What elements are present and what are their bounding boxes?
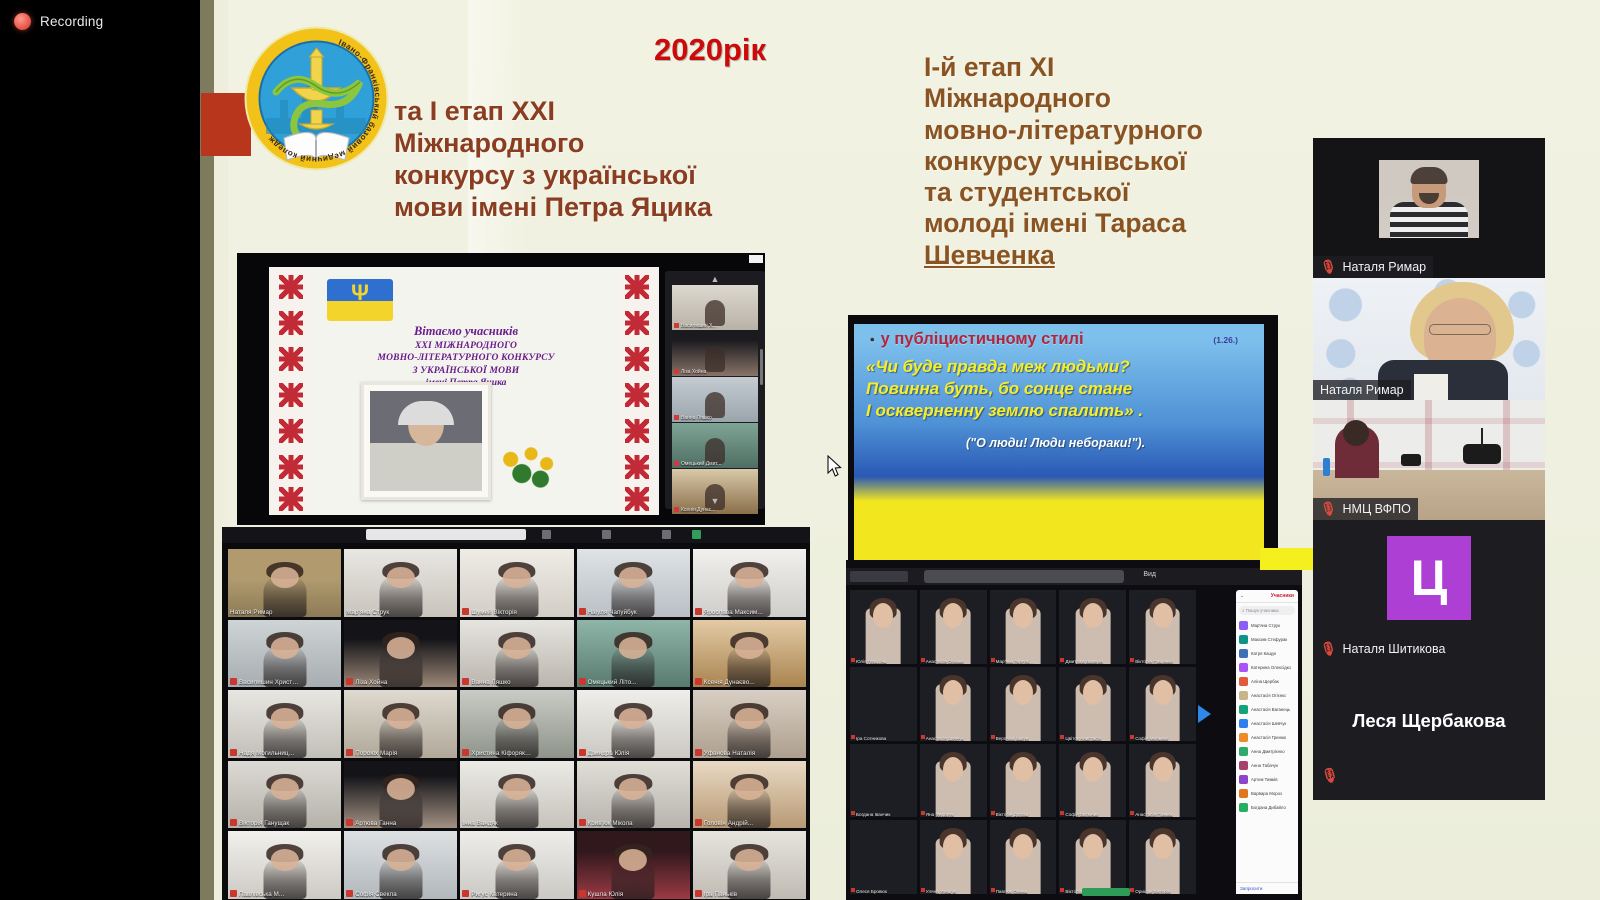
filmstrip-scrollbar[interactable] — [760, 349, 763, 385]
year-badge: 2020рік — [654, 32, 766, 68]
slide-title-right: I-й етап XI Міжнародного мовно-літератур… — [924, 52, 1324, 271]
mic-muted-icon: 🎙 — [1320, 501, 1337, 517]
meeting-toolbar: Вид — [846, 568, 1302, 585]
participant-tile-3-label: НМЦ ВФПО — [1343, 502, 1411, 516]
participant-name: Богдана Іванчик — [856, 812, 890, 817]
gallery-tile[interactable]: Інна Вандяк — [460, 761, 573, 829]
avatar — [1239, 789, 1248, 798]
gallery-tile-label: Христина Кіфоряк… — [462, 749, 571, 757]
chevron-up-icon[interactable]: ▲ — [711, 274, 720, 284]
recording-label: Recording — [40, 14, 103, 29]
participant-list-item[interactable]: Катерина Олексідко — [1236, 660, 1298, 674]
mouse-pointer-icon — [826, 455, 842, 479]
mic-muted-icon — [1060, 811, 1064, 815]
meeting-tile-label: Юлія Гельдіна — [851, 658, 916, 664]
participant-name: Мар'яна Струк — [346, 609, 389, 616]
filmstrip-tile[interactable]: Василишин Х... — [672, 285, 758, 330]
meeting-gallery-tile[interactable]: Софія Мельник — [1129, 667, 1196, 741]
tile-face — [619, 637, 647, 659]
meeting-tile-label: Анастасія Гринюк — [1130, 811, 1195, 817]
meeting-tile-label: Яна Федорук — [921, 811, 986, 817]
avatar — [1239, 649, 1248, 658]
participant-list-item[interactable]: Катря Кащук — [1236, 646, 1298, 660]
meeting-tile-label: Вікторія Гриценко — [1130, 658, 1195, 664]
college-emblem-icon: Івано-Франківський базовий медичний коле… — [240, 22, 393, 175]
gallery-tile[interactable]: Наталя Римар — [228, 549, 341, 617]
meeting-tile-label: Іра Сотникова — [851, 735, 916, 741]
gallery-tile-label: Софія Свекла — [346, 890, 455, 898]
tile-face — [387, 778, 415, 800]
mic-muted-icon: 🎙 — [1320, 259, 1337, 275]
tile-face — [1083, 834, 1103, 859]
title-right-line-6: молоді імені Тараса — [924, 208, 1324, 239]
meeting-gallery-tile[interactable]: Цвіток Анастасія — [1059, 667, 1126, 741]
glasses-icon — [1429, 324, 1491, 335]
filmstrip-tile[interactable]: Ліза Хойна — [672, 331, 758, 376]
gallery-tile[interactable]: Уфанова Наталія — [693, 690, 806, 758]
mic-muted-icon — [1130, 658, 1134, 662]
meeting-gallery-tile[interactable]: Анастасія Шевчук — [920, 667, 987, 741]
invite-button[interactable]: Запросити — [1236, 882, 1298, 894]
tile-face — [503, 778, 531, 800]
meeting-tile-label: Богдана Іванчик — [851, 811, 916, 817]
mic-muted-icon — [991, 735, 995, 739]
participant-name: Іра Сотникова — [856, 736, 886, 741]
mic-muted-icon — [346, 819, 353, 826]
gallery-tile[interactable]: Пороюх Марія — [344, 690, 457, 758]
participant-name: Вероніка Бакун — [996, 736, 1029, 741]
gallery-tile[interactable]: Ригус Катерина — [460, 831, 573, 899]
tile-face — [735, 778, 763, 800]
gallery-tile-label: Вікторія Ганущак — [230, 819, 339, 827]
screen: Recording — [0, 0, 1600, 900]
participant-name: Ванна Ляшко — [471, 679, 510, 686]
welcome-line-3: МОВНО-ЛІТЕРАТУРНОГО КОНКУРСУ — [317, 352, 615, 365]
gallery-tile[interactable]: Ліза Хойна — [344, 620, 457, 688]
participant-list-item[interactable]: Аліна Щербак — [1236, 674, 1298, 688]
participant-list-item[interactable]: Анастасія Гринюк — [1236, 730, 1298, 744]
tile-face — [1153, 757, 1173, 782]
meeting-gallery-tile[interactable]: Яна Федорук — [920, 744, 987, 818]
participant-name: Орищак Вікторія — [1135, 889, 1170, 894]
tile-face — [735, 637, 763, 659]
flower-decoration — [497, 445, 559, 500]
meeting-gallery-tile[interactable]: Юлія Гельдіна — [850, 590, 917, 664]
participant-list-item[interactable]: Анастасія Шевчук — [1236, 716, 1298, 730]
mic-muted-icon — [579, 749, 586, 756]
mic-muted-icon — [579, 608, 586, 615]
mic-muted-icon — [851, 735, 855, 739]
gallery-tile-label: Іра Паньків — [695, 890, 804, 898]
share-button[interactable] — [1082, 888, 1130, 896]
participant-name: Катря Кащук — [1251, 651, 1276, 656]
view-button-label[interactable]: Вид — [1143, 571, 1156, 578]
blue-slide-source: ("О люди! Люди небораки!"). — [966, 436, 1258, 450]
ukraine-flag-emblem: Ψ — [327, 279, 393, 321]
participant-name: Інна Вандяк — [462, 820, 497, 827]
participant-tile-5-label: Леся Щербакова — [1313, 710, 1545, 732]
gallery-tile[interactable]: Софія Свекла — [344, 831, 457, 899]
tile-face — [943, 603, 963, 628]
meeting-gallery-tile[interactable]: Богдана Іванчик — [850, 744, 917, 818]
filmstrip-tile-label: Ванна Ляшко — [681, 415, 712, 421]
filmstrip-tile[interactable]: Ксенія Дунає... — [672, 469, 758, 514]
mic-muted-icon — [579, 819, 586, 826]
tile-face — [387, 708, 415, 730]
yellow-highlight-block — [1260, 548, 1318, 570]
gallery-tile-label: Павлівська М... — [230, 890, 339, 898]
title-right-line-7: Шевченка — [924, 240, 1324, 271]
meeting-gallery-tile[interactable]: Іра Сотникова — [850, 667, 917, 741]
participant-name: Анастасія Шевчук — [926, 736, 964, 741]
participant-name: Богдана Дибайло — [1251, 805, 1286, 810]
avatar — [1239, 803, 1248, 812]
blue-slide-quote: «Чи буде правда меж людьми? Повинна буть… — [866, 356, 1258, 422]
meeting-gallery-grid: Юлія ГельдінаАнастасія ОгієнкоМар'яна Ге… — [850, 590, 1196, 894]
filmstrip-tile-label: Ліза Хойна — [681, 369, 706, 375]
meeting-gallery-tile[interactable]: Уляна Улищук — [920, 820, 987, 894]
participant-tile-4[interactable]: Ц 🎙 Наталя Шитикова — [1313, 520, 1545, 660]
gallery-topbar — [222, 527, 810, 543]
participant-list-item[interactable]: Варвара Мороз — [1236, 786, 1298, 800]
tile-face — [503, 567, 531, 589]
screenshot-corner-marker — [749, 255, 763, 263]
gallery-tile-label: Мар'яна Струк — [346, 609, 455, 616]
avatar — [1239, 719, 1248, 728]
meeting-gallery-tile[interactable]: Вікторія Дорош — [990, 744, 1057, 818]
tile-face — [1013, 603, 1033, 628]
title-left-line-4: мови імені Петра Яцика — [394, 192, 824, 224]
gallery-tile[interactable]: Василишин Христ… — [228, 620, 341, 688]
mic-muted-icon — [1130, 735, 1134, 739]
slide-title-left: та I етап XXI Міжнародного конкурсу з ук… — [394, 96, 824, 223]
participant-name: Анастасія Гринюк — [1135, 812, 1172, 817]
participant-name: Вікторія Гриценко — [1135, 659, 1173, 664]
avatar — [1239, 635, 1248, 644]
meeting-tile-label: Софія Мельник — [1130, 735, 1195, 741]
welcome-slide: Ψ Вітаємо учасників XXI МІЖНАРОДНОГО МОВ… — [269, 267, 659, 515]
title-right-line-4: конкурсу учнівської — [924, 146, 1324, 177]
participant-name: Іра Паньків — [704, 891, 737, 898]
gallery-grid: Наталя РимарМар'яна СтрукШумей ВікторіяН… — [228, 549, 806, 899]
meeting-tile-label: Софія Васюник — [1060, 811, 1125, 817]
tile-face — [1153, 603, 1173, 628]
tile-face — [270, 637, 298, 659]
play-arrow-icon[interactable] — [1198, 705, 1211, 723]
title-right-line-3: мовно-літературного — [924, 115, 1324, 146]
participant-name: Софія Васюник — [1065, 812, 1098, 817]
gallery-tile-label: Ригус Катерина — [462, 890, 571, 898]
mic-muted-icon — [695, 678, 702, 685]
mic-muted-icon — [695, 819, 702, 826]
participant-name: Дзиндра Юлія — [588, 750, 630, 757]
gallery-tile[interactable]: Надя Могильниц… — [228, 690, 341, 758]
tile-face — [619, 778, 647, 800]
gallery-tile[interactable]: Вікторія Ганущак — [228, 761, 341, 829]
gallery-tile-label: Кушла Юлія — [579, 890, 688, 898]
gallery-tile[interactable]: Наіуля Чапуйбук — [577, 549, 690, 617]
tile-face — [1153, 680, 1173, 705]
avatar — [1239, 677, 1248, 686]
participant-name: Уляна Улищук — [926, 889, 956, 894]
welcome-line-2: XXI МІЖНАРОДНОГО — [317, 340, 615, 353]
gallery-tile-label: Уфанова Наталія — [695, 749, 804, 757]
gallery-tile-label: Надя Могильниц… — [230, 749, 339, 757]
mic-muted-icon — [1060, 888, 1064, 892]
tile-face — [735, 708, 763, 730]
mic-muted-icon — [230, 890, 237, 897]
meeting-gallery-tile[interactable]: Олеся Бровюк — [850, 820, 917, 894]
meeting-tile-label: Уляна Улищук — [921, 888, 986, 894]
participant-list-item[interactable]: Анастасія Ваганець — [1236, 702, 1298, 716]
participant-name-bar: 🎙 Наталя Римар — [1313, 256, 1433, 278]
meeting-gallery-tile[interactable]: Анастасія Гринюк — [1129, 744, 1196, 818]
participant-name: Катерина Олексідко — [1251, 665, 1291, 670]
mic-muted-icon — [851, 658, 855, 662]
participant-name: Крив'юк Мікола — [588, 820, 633, 827]
meeting-gallery-tile[interactable]: Павлюк Олена — [990, 820, 1057, 894]
meeting-tile-label: Мар'яна Гергулі... — [991, 658, 1056, 664]
meeting-gallery-tile[interactable]: Дмитрієв Валерія — [1059, 590, 1126, 664]
participant-name: Христина Кіфоряк… — [471, 750, 531, 757]
tile-face — [1083, 757, 1103, 782]
gallery-tile[interactable]: Христина Кіфоряк… — [460, 690, 573, 758]
participant-name: Анастасія Ваганець — [1251, 707, 1290, 712]
meeting-gallery-tile[interactable]: Софія Васюник — [1059, 744, 1126, 818]
participant-name: Василишин Христ… — [239, 679, 298, 686]
participant-name: Цвіток Анастасія — [1065, 736, 1101, 741]
quote-line-2: Повинна буть, бо сонце стане — [866, 378, 1258, 400]
gallery-tile[interactable]: Ксенія Дунаєво... — [693, 620, 806, 688]
participant-name: Яна Федорук — [926, 812, 954, 817]
participant-name: Ксенія Дунаєво... — [704, 679, 755, 686]
tile-face — [619, 567, 647, 589]
participants-panel: ⌄ Учасники ⌕ Пошук учасника Мар'яна Стру… — [1236, 590, 1298, 894]
gallery-tile[interactable]: Кушла Юлія — [577, 831, 690, 899]
mic-muted-icon — [230, 819, 237, 826]
tile-face — [270, 567, 298, 589]
title-left-line-3: конкурсу з української — [394, 160, 824, 192]
participant-name: Аліна Щербак — [1251, 679, 1279, 684]
tile-face — [943, 757, 963, 782]
participant-list-item[interactable]: Анна Дмитрієнко — [1236, 744, 1298, 758]
gallery-tile-label: Артюва Ганна — [346, 819, 455, 827]
participant-name: Павлюк Олена — [996, 889, 1027, 894]
gallery-tile[interactable]: Головін Андрій... — [693, 761, 806, 829]
participant-tile-4-label: Наталя Шитикова — [1343, 642, 1446, 656]
record-dot-icon — [14, 13, 31, 30]
participant-name: Вікторія Дорош — [996, 812, 1029, 817]
avatar: Ц — [1387, 536, 1471, 620]
filmstrip-tile-label: Омецький Дмит... — [681, 461, 721, 467]
participant-tile-5[interactable]: Леся Щербакова 🎙 — [1313, 660, 1545, 790]
mic-muted-icon — [579, 678, 586, 685]
avatar — [1239, 747, 1248, 756]
blue-slide-body: •у публіцистичному стилі (1.26.) «Чи буд… — [854, 324, 1264, 570]
participants-panel-title: Учасники — [1271, 593, 1294, 599]
mic-muted-icon: 🎙 — [1320, 641, 1337, 657]
gallery-tile-label: Ярослава Максим... — [695, 608, 804, 616]
mic-muted-icon — [230, 678, 237, 685]
avatar — [1239, 705, 1248, 714]
meeting-gallery-tile[interactable]: Орищак Вікторія — [1129, 820, 1196, 894]
participant-list-item[interactable]: Максим Стефурак — [1236, 632, 1298, 646]
participant-tile-2-active-speaker[interactable]: Наталя Римар — [1313, 278, 1545, 400]
embroidery-border-right — [615, 267, 659, 515]
participant-list-item[interactable]: Анна Табачук — [1236, 758, 1298, 772]
welcome-line-1: Вітаємо учасників — [317, 323, 615, 340]
left-black-bar: Recording — [0, 0, 200, 900]
participant-name: Юлія Гельдіна — [856, 659, 886, 664]
participant-name: Павлівська М... — [239, 891, 284, 898]
avatar — [1239, 621, 1248, 630]
mic-muted-icon — [921, 811, 925, 815]
chevron-down-icon[interactable]: ▼ — [711, 496, 720, 506]
gallery-tile-label: Омецький Літо... — [579, 678, 688, 686]
title-right-line-5: та студентської — [924, 177, 1324, 208]
mic-muted-icon — [991, 888, 995, 892]
participant-name: Наталя Римар — [230, 609, 273, 616]
gallery-tile[interactable]: Шумей Вікторія — [460, 549, 573, 617]
chevron-collapse-icon[interactable]: ⌄ — [1240, 593, 1244, 599]
mic-muted-icon — [462, 608, 469, 615]
tile-face — [1013, 757, 1033, 782]
participant-name: Анна Дмитрієнко — [1251, 749, 1285, 754]
tile-face — [873, 603, 893, 628]
participant-name: Головін Андрій... — [704, 820, 753, 827]
avatar — [1239, 691, 1248, 700]
mic-muted-icon — [462, 890, 469, 897]
tile-face — [503, 708, 531, 730]
participant-name: Артюва Ганна — [355, 820, 396, 827]
meeting-title-pill — [924, 570, 1124, 583]
gallery-tile-label: Головін Андрій... — [695, 819, 804, 827]
tile-face — [619, 708, 647, 730]
participant-list-item[interactable]: Артем Тимків — [1236, 772, 1298, 786]
avatar — [1239, 733, 1248, 742]
participant-name: Мар'яна Гергулі... — [996, 659, 1033, 664]
tile-face — [1013, 834, 1033, 859]
tile-face — [1013, 680, 1033, 705]
participant-name: Ліза Хойна — [355, 679, 387, 686]
gallery-tile[interactable]: Ванна Ляшко — [460, 620, 573, 688]
tile-face — [387, 567, 415, 589]
tile-face — [943, 680, 963, 705]
mic-muted-icon — [991, 811, 995, 815]
participant-search-input[interactable]: ⌕ Пошук учасника — [1239, 606, 1295, 615]
participant-name: Анастасія Огієнко — [926, 659, 964, 664]
gallery-tile[interactable]: Омецький Літо... — [577, 620, 690, 688]
meeting-gallery-tile[interactable]: Анастасія Огієнко — [920, 590, 987, 664]
gallery-tile-label: Ліза Хойна — [346, 678, 455, 686]
mic-muted-icon — [579, 890, 586, 897]
participant-name-bar: 🎙 НМЦ ВФПО — [1313, 498, 1418, 520]
participant-name: Софія Свекла — [355, 891, 397, 898]
gallery-tile[interactable]: Мар'яна Струк — [344, 549, 457, 617]
gallery-tile[interactable]: Ярослава Максим... — [693, 549, 806, 617]
tile-face — [503, 637, 531, 659]
gallery-tile[interactable]: Іра Паньків — [693, 831, 806, 899]
mic-muted-icon — [695, 608, 702, 615]
mic-muted-icon — [1060, 735, 1064, 739]
gallery-tile[interactable]: Артюва Ганна — [344, 761, 457, 829]
title-right-line-1: I-й етап XI — [924, 52, 1324, 83]
mic-muted-icon — [230, 749, 237, 756]
tile-face — [735, 567, 763, 589]
mic-muted-icon — [695, 749, 702, 756]
filmstrip-tile[interactable]: Омецький Дмит... — [672, 423, 758, 468]
toolbar-left-pill[interactable] — [850, 571, 908, 582]
participant-name: Дмитрієв Валерія — [1065, 659, 1103, 664]
meeting-gallery-tile[interactable]: Вікторія Гриценко — [1129, 590, 1196, 664]
tile-face — [270, 708, 298, 730]
participant-name: Варвара Мороз — [1251, 791, 1282, 796]
participant-name: Ярослава Максим... — [704, 609, 763, 616]
participant-list-item[interactable]: Мар'яна Струк — [1236, 618, 1298, 632]
meeting-gallery-tile[interactable]: Вікторія Гасюнюк — [1059, 820, 1126, 894]
gallery-tile-label: Василишин Христ… — [230, 678, 339, 686]
meeting-tile-label: Анастасія Шевчук — [921, 735, 986, 741]
participant-name: Артем Тимків — [1251, 777, 1278, 782]
embroidery-border-left — [269, 267, 313, 515]
gallery-tile-label: Наіуля Чапуйбук — [579, 608, 688, 616]
participant-list-item[interactable]: Анастасія Огієнко — [1236, 688, 1298, 702]
participant-tile-1[interactable]: 🎙 Наталя Римар — [1313, 138, 1545, 278]
filmstrip-tile[interactable]: Ванна Ляшко — [672, 377, 758, 422]
meeting-tile-label: Цвіток Анастасія — [1060, 735, 1125, 741]
participant-name: Ригус Катерина — [471, 891, 517, 898]
participant-tile-1-label: Наталя Римар — [1343, 260, 1427, 274]
participant-list-item[interactable]: Богдана Дибайло — [1236, 800, 1298, 814]
participant-name: Уфанова Наталія — [704, 750, 756, 757]
tile-face — [1153, 834, 1173, 859]
gallery-tile[interactable]: Дзиндра Юлія — [577, 690, 690, 758]
tile-face — [270, 778, 298, 800]
participants-list: Мар'яна СтрукМаксим СтефуракКатря КащукК… — [1236, 618, 1298, 814]
participant-tile-3[interactable]: 🎙 НМЦ ВФПО — [1313, 400, 1545, 520]
mic-muted-icon — [851, 888, 855, 892]
shevchenko-publicistic-style-slide: •у публіцистичному стилі (1.26.) «Чи буд… — [848, 315, 1278, 580]
participant-name: Максим Стефурак — [1251, 637, 1287, 642]
meeting-gallery-tile[interactable]: Вероніка Бакун — [990, 667, 1057, 741]
mic-muted-icon — [462, 749, 469, 756]
quote-line-3: І оскверненну землю спалить» . — [866, 400, 1258, 422]
mic-muted-icon — [921, 735, 925, 739]
participant-name-bar: Наталя Римар — [1313, 380, 1411, 400]
participant-name: Пороюх Марія — [355, 750, 397, 757]
mic-muted-icon — [921, 658, 925, 662]
participant-name: Софія Мельник — [1135, 736, 1168, 741]
gallery-tile[interactable]: Павлівська М... — [228, 831, 341, 899]
gallery-tile[interactable]: Крив'юк Мікола — [577, 761, 690, 829]
tile-face — [619, 849, 647, 871]
tile-face — [503, 849, 531, 871]
zoom-meeting-with-participants-panel: Вид Юлія ГельдінаАнастасія ОгієнкоМар'ян… — [846, 560, 1302, 900]
title-right-line-2: Міжнародного — [924, 83, 1324, 114]
participant-name: Мар'яна Струк — [1251, 623, 1280, 628]
participant-filmstrip[interactable]: ▲ Василишин Х... Ліза Хойна Ванна Ляшко — [665, 271, 765, 509]
participant-name: Омецький Літо... — [588, 679, 637, 686]
mic-muted-icon — [346, 749, 353, 756]
participant-name: Наіуля Чапуйбук — [588, 609, 637, 616]
bullet-icon: • — [870, 332, 875, 347]
meeting-gallery-tile[interactable]: Мар'яна Гергулі... — [990, 590, 1057, 664]
avatar — [1239, 761, 1248, 770]
gallery-tile-label: Крив'юк Мікола — [579, 819, 688, 827]
zoom-participant-column: 🎙 Наталя Римар Наталя Римар 🎙 НМЦ ВФПО Ц — [1313, 138, 1545, 800]
welcome-text-block: Вітаємо учасників XXI МІЖНАРОДНОГО МОВНО… — [317, 323, 615, 390]
gallery-tile-label: Наталя Римар — [230, 609, 339, 616]
